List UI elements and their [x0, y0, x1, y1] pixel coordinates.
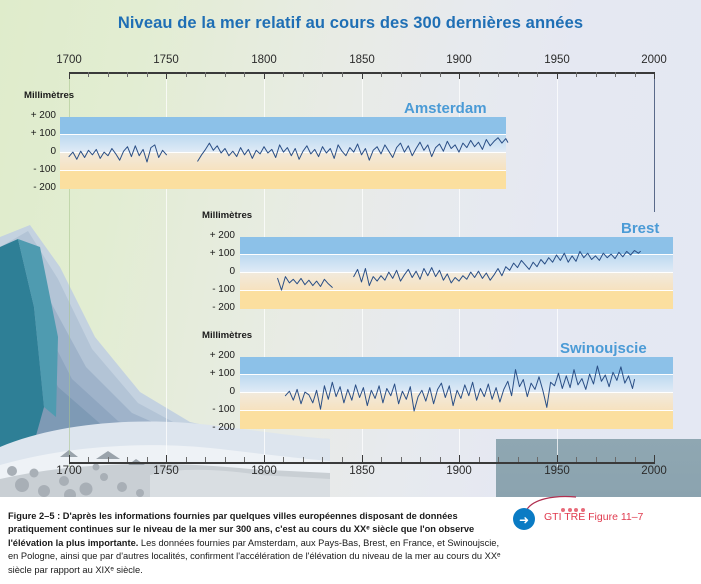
- axis-label-top: 1900: [437, 54, 481, 66]
- series-line-swinoujscie: [240, 357, 673, 429]
- plot-band-amsterdam: [60, 117, 506, 189]
- axis-tick: [166, 455, 167, 462]
- axis-tick: [479, 72, 480, 77]
- axis-tick: [635, 457, 636, 462]
- axis-tick: [186, 457, 187, 462]
- axis-tick: [244, 72, 245, 77]
- axis-label-bottom: 2000: [632, 465, 676, 477]
- axis-tick: [537, 457, 538, 462]
- figure-panel: Niveau de la mer relatif au cours des 30…: [0, 0, 701, 497]
- axis-tick: [342, 72, 343, 77]
- axis-tick: [381, 72, 382, 77]
- axis-tick: [283, 72, 284, 77]
- axis-label-bottom: 1700: [47, 465, 91, 477]
- axis-tick: [459, 455, 460, 462]
- axis-tick: [342, 457, 343, 462]
- axis-tick: [166, 72, 167, 79]
- y-tick-label: + 100: [16, 128, 56, 139]
- chart-swinoujscie: Millimètres Swinoujscie + 200 + 100 0 - …: [0, 326, 701, 441]
- axis-label-top: 1800: [242, 54, 286, 66]
- axis-tick: [186, 72, 187, 77]
- reference-text[interactable]: GTI TRE Figure 11–7: [544, 511, 643, 523]
- y-tick-label: - 100: [16, 164, 56, 175]
- arrow-right-icon: ➜: [519, 514, 529, 526]
- axis-tick: [88, 72, 89, 77]
- axis-tick: [322, 457, 323, 462]
- axis-tick: [127, 457, 128, 462]
- axis-tick: [108, 457, 109, 462]
- axis-tick: [69, 72, 70, 79]
- y-tick-label: 0: [16, 146, 56, 157]
- axis-tick: [362, 72, 363, 79]
- y-tick-label: - 200: [195, 422, 235, 433]
- axis-tick: [557, 455, 558, 462]
- axis-tick: [205, 72, 206, 77]
- y-tick-label: 0: [195, 386, 235, 397]
- axis-tick: [654, 72, 655, 79]
- axis-tick: [127, 72, 128, 77]
- chart-brest: Millimètres Brest + 200 + 100 0 - 100 - …: [0, 206, 701, 318]
- axis-tick: [615, 457, 616, 462]
- plot-band-swinoujscie: [240, 357, 673, 429]
- plot-band-brest: [240, 237, 673, 309]
- bottom-axis-line: [69, 462, 655, 464]
- axis-tick: [303, 72, 304, 77]
- axis-tick: [596, 457, 597, 462]
- axis-tick: [283, 457, 284, 462]
- axis-tick: [596, 72, 597, 77]
- y-tick-label: + 200: [195, 350, 235, 361]
- axis-tick: [88, 457, 89, 462]
- axis-label-top: 1950: [535, 54, 579, 66]
- axis-tick: [498, 72, 499, 77]
- city-label-brest: Brest: [621, 220, 659, 237]
- axis-tick: [420, 72, 421, 77]
- axis-label-top: 1850: [340, 54, 384, 66]
- axis-tick: [440, 72, 441, 77]
- axis-label-top: 2000: [632, 54, 676, 66]
- axis-tick: [518, 457, 519, 462]
- y-tick-label: + 200: [195, 230, 235, 241]
- y-tick-label: 0: [195, 266, 235, 277]
- y-tick-label: + 100: [195, 248, 235, 259]
- figure-caption: Figure 2–5 : D'après les informations fo…: [8, 510, 502, 577]
- axis-label-top: 1750: [144, 54, 188, 66]
- city-label-amsterdam: Amsterdam: [404, 100, 487, 117]
- y-tick-label: - 100: [195, 284, 235, 295]
- y-tick-label: + 100: [195, 368, 235, 379]
- axis-tick: [401, 457, 402, 462]
- axis-tick: [225, 72, 226, 77]
- axis-tick: [537, 72, 538, 77]
- axis-tick: [264, 72, 265, 79]
- caption-area: Figure 2–5 : D'après les informations fo…: [0, 497, 701, 584]
- axis-tick: [322, 72, 323, 77]
- axis-tick: [225, 457, 226, 462]
- axis-tick: [576, 72, 577, 77]
- axis-tick: [420, 457, 421, 462]
- axis-tick: [576, 457, 577, 462]
- chart-amsterdam: Millimètres Amsterdam + 200 + 100 0 - 10…: [0, 86, 701, 198]
- units-label-amsterdam: Millimètres: [24, 90, 74, 101]
- y-tick-label: - 200: [16, 182, 56, 193]
- axis-tick: [69, 455, 70, 462]
- axis-tick: [244, 457, 245, 462]
- reference-badge-button[interactable]: ➜: [513, 508, 535, 530]
- axis-tick: [401, 72, 402, 77]
- axis-tick: [615, 72, 616, 77]
- axis-tick: [147, 72, 148, 77]
- axis-label-top: 1700: [47, 54, 91, 66]
- units-label-brest: Millimètres: [202, 210, 252, 221]
- axis-tick: [205, 457, 206, 462]
- axis-tick: [264, 455, 265, 462]
- y-tick-label: - 100: [195, 404, 235, 415]
- axis-label-bottom: 1900: [437, 465, 481, 477]
- axis-tick: [381, 457, 382, 462]
- bottom-axis: 1700 1750 1800 1850 1900 1950 2000: [0, 452, 701, 482]
- axis-label-bottom: 1850: [340, 465, 384, 477]
- axis-tick: [147, 457, 148, 462]
- axis-tick: [557, 72, 558, 79]
- axis-tick: [459, 72, 460, 79]
- axis-tick: [362, 455, 363, 462]
- axis-tick: [654, 455, 655, 462]
- axis-tick: [479, 457, 480, 462]
- series-line-brest: [240, 237, 673, 309]
- axis-label-bottom: 1750: [144, 465, 188, 477]
- axis-tick: [108, 72, 109, 77]
- axis-tick: [440, 457, 441, 462]
- axis-tick: [303, 457, 304, 462]
- top-axis: 1700 1750 1800 1850 1900 1950 2000: [0, 57, 701, 87]
- series-line-amsterdam: [60, 117, 506, 189]
- page-title: Niveau de la mer relatif au cours des 30…: [0, 14, 701, 33]
- y-tick-label: + 200: [16, 110, 56, 121]
- axis-tick: [635, 72, 636, 77]
- city-label-swinoujscie: Swinoujscie: [560, 340, 647, 357]
- units-label-swinoujscie: Millimètres: [202, 330, 252, 341]
- y-tick-label: - 200: [195, 302, 235, 313]
- axis-label-bottom: 1950: [535, 465, 579, 477]
- axis-tick: [498, 457, 499, 462]
- axis-label-bottom: 1800: [242, 465, 286, 477]
- axis-tick: [518, 72, 519, 77]
